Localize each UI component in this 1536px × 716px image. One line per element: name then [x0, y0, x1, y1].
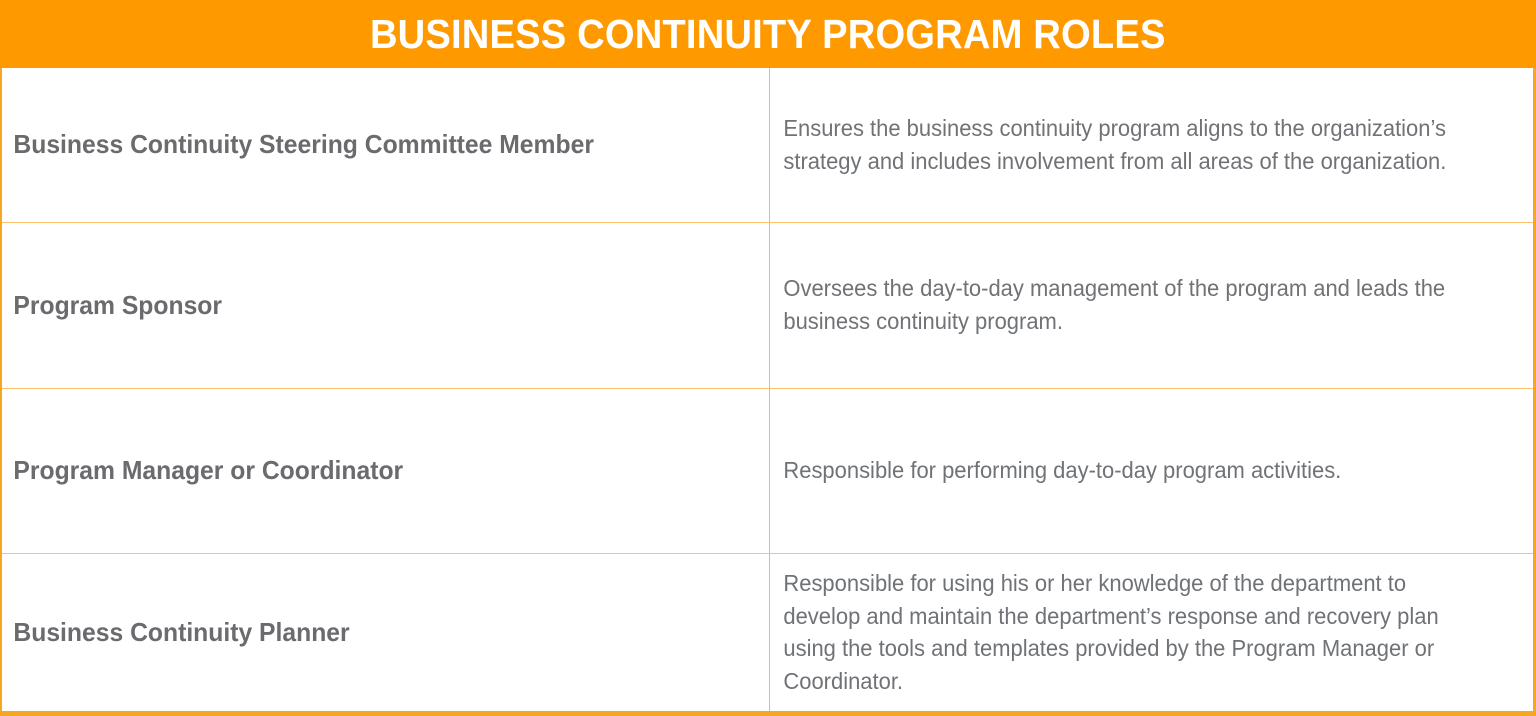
roles-table-container: Business Continuity Steering Committee M… — [0, 68, 1536, 716]
table-row: Business Continuity Planner Responsible … — [2, 553, 1533, 711]
description-cell: Ensures the business continuity program … — [770, 68, 1534, 222]
description-cell: Responsible for performing day-to-day pr… — [770, 388, 1534, 553]
page-header-banner: BUSINESS CONTINUITY PROGRAM ROLES — [0, 0, 1536, 68]
role-name-label: Business Continuity Steering Committee M… — [2, 129, 731, 160]
role-description-text: Oversees the day-to-day management of th… — [770, 272, 1499, 337]
role-description-text: Responsible for performing day-to-day pr… — [770, 454, 1499, 487]
description-cell: Responsible for using his or her knowled… — [770, 553, 1534, 711]
role-cell: Business Continuity Planner — [2, 553, 770, 711]
page-title: BUSINESS CONTINUITY PROGRAM ROLES — [370, 14, 1166, 55]
role-cell: Program Sponsor — [2, 222, 770, 388]
roles-table: Business Continuity Steering Committee M… — [2, 68, 1533, 711]
description-cell: Oversees the day-to-day management of th… — [770, 222, 1534, 388]
table-row: Program Sponsor Oversees the day-to-day … — [2, 222, 1533, 388]
role-cell: Program Manager or Coordinator — [2, 388, 770, 553]
role-description-text: Responsible for using his or her knowled… — [770, 567, 1499, 698]
table-row: Program Manager or Coordinator Responsib… — [2, 388, 1533, 553]
role-description-text: Ensures the business continuity program … — [770, 112, 1499, 177]
role-name-label: Program Manager or Coordinator — [2, 455, 731, 486]
role-cell: Business Continuity Steering Committee M… — [2, 68, 770, 222]
role-name-label: Business Continuity Planner — [2, 617, 731, 648]
role-name-label: Program Sponsor — [2, 290, 731, 321]
table-row: Business Continuity Steering Committee M… — [2, 68, 1533, 222]
business-continuity-roles-page: BUSINESS CONTINUITY PROGRAM ROLES Busine… — [0, 0, 1536, 716]
